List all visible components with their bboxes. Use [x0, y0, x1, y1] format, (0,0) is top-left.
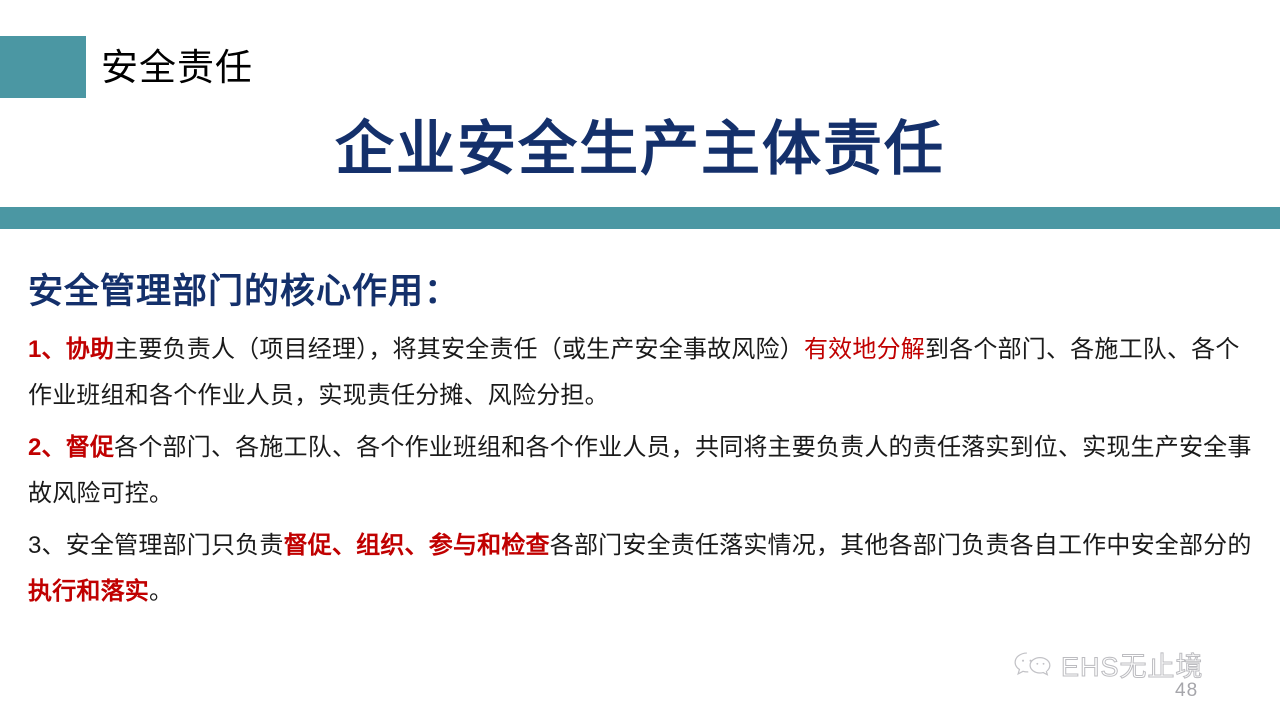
page-number: 48: [1175, 680, 1198, 702]
text-run: 督促: [66, 434, 114, 461]
body-paragraph: 3、安全管理部门只负责督促、组织、参与和检查各部门安全责任落实情况，其他各部门负…: [28, 523, 1254, 615]
text-run: 各个部门、各施工队、各个作业班组和各个作业人员，共同将主要负责人的责任落实到位、…: [28, 434, 1252, 507]
body-paragraph: 2、督促各个部门、各施工队、各个作业班组和各个作业人员，共同将主要负责人的责任落…: [28, 425, 1254, 517]
watermark-label: EHS无止境: [1061, 654, 1204, 681]
paragraph-number: 3、: [28, 532, 66, 559]
section-heading: 安全管理部门的核心作用：: [28, 263, 460, 314]
watermark: EHS无止境: [1012, 651, 1204, 683]
body-paragraph: 1、协助主要负责人（项目经理），将其安全责任（或生产安全事故风险）有效地分解到各…: [28, 327, 1254, 419]
text-run: 安全管理部门只负责: [66, 532, 284, 559]
text-run: 有效地分解: [804, 336, 925, 363]
slide-kicker: 安全责任: [0, 36, 253, 98]
wechat-icon: [1012, 651, 1054, 683]
header-divider: [0, 207, 1280, 229]
text-run: 。: [149, 578, 173, 605]
body-content: 1、协助主要负责人（项目经理），将其安全责任（或生产安全事故风险）有效地分解到各…: [28, 327, 1254, 621]
text-run: 主要负责人（项目经理），将其安全责任（或生产安全事故风险）: [114, 336, 804, 363]
text-run: 协助: [66, 336, 114, 363]
kicker-color-block: [0, 36, 86, 98]
text-run: 各部门安全责任落实情况，其他各部门负责各自工作中安全部分的: [550, 532, 1252, 559]
paragraph-number: 2、: [28, 434, 66, 461]
text-run: 督促、组织、参与和检查: [284, 532, 550, 559]
paragraph-number: 1、: [28, 336, 66, 363]
slide-canvas: 安全责任 企业安全生产主体责任 安全管理部门的核心作用： 1、协助主要负责人（项…: [0, 0, 1280, 720]
text-run: 执行和落实: [28, 578, 149, 605]
kicker-label: 安全责任: [101, 49, 253, 86]
page-title: 企业安全生产主体责任: [0, 101, 1280, 186]
